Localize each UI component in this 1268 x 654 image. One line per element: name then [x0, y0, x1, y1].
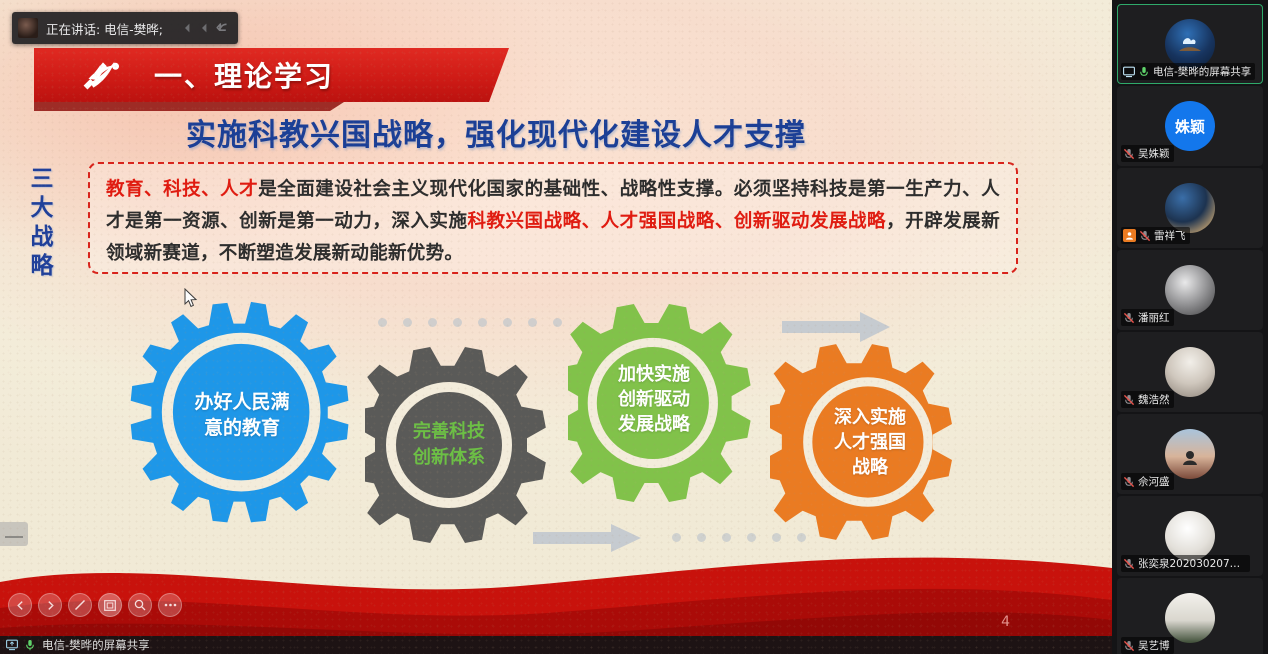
avatar [1165, 19, 1215, 69]
gear-education-shape [128, 297, 374, 543]
participant-name-row: 雷祥飞 [1121, 227, 1190, 244]
participant-tile-4[interactable]: 魏浩然 [1117, 332, 1263, 412]
gear-innovation-shape [568, 302, 770, 504]
mic-on-icon [24, 639, 36, 651]
connector-dots-upper [378, 318, 562, 327]
participant-tile-1[interactable]: 姝颖 吴姝颖 [1117, 86, 1263, 166]
mic-off-icon [1123, 558, 1135, 570]
presentation-toolbar[interactable] [4, 590, 186, 620]
active-speaker-badge[interactable]: 正在讲话: 电信-樊晔; [12, 12, 238, 44]
speaker-badge-controls[interactable] [181, 21, 230, 35]
mouse-cursor [184, 288, 198, 312]
participant-name: 吴姝颖 [1138, 146, 1170, 161]
screen-share-status-bar[interactable]: 电信-樊晔的屏幕共享 [0, 636, 1112, 654]
participant-name-row: 佘河盛 [1121, 473, 1174, 490]
mic-on-icon [1138, 66, 1150, 78]
mic-off-icon [1123, 394, 1135, 406]
slide-section-banner: 一、理论学习 [34, 48, 509, 102]
active-speaker-label: 正在讲话: 电信-樊晔; [46, 19, 163, 38]
banner-title: 一、理论学习 [154, 48, 334, 102]
quote-highlight-3: 国战略、创新驱动发展战略 [658, 211, 886, 232]
quote-dashed-box: 教育、科技、人才是全面建设社会主义现代化国家的基础性、战略性支撑。必须坚持科技是… [88, 162, 1018, 274]
shared-screen-area[interactable]: 一、理论学习 实施科教兴国战略，强化现代化建设人才支撑 三 大 战 略 教育、科… [0, 0, 1112, 654]
avatar [1165, 265, 1215, 315]
participant-name-row: 吴姝颖 [1121, 145, 1174, 162]
avatar [1165, 593, 1215, 643]
avatar [1165, 183, 1215, 233]
gear-talent[interactable]: 深入实施 人才强国 战略 [770, 340, 974, 544]
participant-name: 张奕泉2020302074电子… [1138, 556, 1246, 571]
participant-tile-7[interactable]: 吴艺博 [1117, 578, 1263, 654]
screen-share-icon [6, 639, 18, 651]
screen-share-icon [1123, 66, 1135, 78]
participant-name-row: 吴艺博 [1121, 637, 1174, 654]
vertical-char-4: 略 [31, 253, 54, 279]
gear-talent-shape [770, 340, 974, 544]
avatar [1165, 511, 1215, 561]
slide-vertical-label: 三 大 战 略 [22, 165, 62, 281]
screen-share-status-text: 电信-樊晔的屏幕共享 [42, 637, 150, 653]
mic-off-icon [1123, 312, 1135, 324]
participant-name: 雷祥飞 [1154, 228, 1186, 243]
gear-education[interactable]: 办好人民满 意的教育 [128, 297, 374, 543]
participant-name: 佘河盛 [1138, 474, 1170, 489]
mic-off-icon [1123, 640, 1135, 652]
slide-page-number: 4 [1001, 614, 1010, 630]
mic-off-icon [1139, 230, 1151, 242]
quote-text-1: 是全面建设社会主义现代化国家的基础性、战略性支撑。必须坚持 [258, 179, 810, 200]
avatar [1165, 347, 1215, 397]
presentation-slide[interactable]: 一、理论学习 实施科教兴国战略，强化现代化建设人才支撑 三 大 战 略 教育、科… [0, 0, 1112, 654]
host-badge-icon [1123, 229, 1136, 242]
avatar [1165, 429, 1215, 479]
gear-innovation[interactable]: 加快实施 创新驱动 发展战略 [568, 302, 770, 504]
participant-filmstrip[interactable]: 电信-樊晔的屏幕共享 姝颖 吴姝颖 [1112, 0, 1268, 654]
gear-sci-tech[interactable]: 完善科技 创新体系 [365, 345, 565, 545]
participant-name: 吴艺博 [1138, 638, 1170, 653]
screen-share-meeting-window: 一、理论学习 实施科教兴国战略，强化现代化建设人才支撑 三 大 战 略 教育、科… [0, 0, 1268, 654]
vertical-char-1: 三 [31, 166, 54, 192]
participant-tile-6[interactable]: 张奕泉2020302074电子… [1117, 496, 1263, 576]
mic-off-icon [1123, 476, 1135, 488]
participant-name-row: 张奕泉2020302074电子… [1121, 555, 1250, 572]
pen-annotate-button[interactable] [68, 593, 92, 617]
zoom-button[interactable] [128, 593, 152, 617]
collapse-left-icon[interactable] [181, 21, 195, 35]
participant-tile-0[interactable]: 电信-樊晔的屏幕共享 [1117, 4, 1263, 84]
avatar-initials: 姝颖 [1175, 116, 1205, 137]
mic-off-icon [1123, 148, 1135, 160]
restore-arrow-icon[interactable] [215, 21, 230, 35]
party-emblem-icon [62, 40, 142, 110]
participant-name-row: 电信-樊晔的屏幕共享 [1121, 63, 1255, 80]
avatar: 姝颖 [1165, 101, 1215, 151]
quote-paragraph: 教育、科技、人才是全面建设社会主义现代化国家的基础性、战略性支撑。必须坚持科技是… [106, 174, 1000, 270]
participant-name: 魏浩然 [1138, 392, 1170, 407]
participant-name-row: 潘丽红 [1121, 309, 1174, 326]
vertical-char-3: 战 [31, 224, 54, 250]
slide-thumbnails-button[interactable] [98, 593, 122, 617]
slide-footer-wave: 4 [0, 524, 1112, 654]
next-slide-button[interactable] [38, 593, 62, 617]
slide-main-title: 实施科教兴国战略，强化现代化建设人才支撑 [186, 110, 946, 154]
participant-tile-5[interactable]: 佘河盛 [1117, 414, 1263, 494]
quote-highlight-1: 教育、科技、人才 [106, 179, 258, 200]
participant-tile-2[interactable]: 雷祥飞 [1117, 168, 1263, 248]
participant-tile-3[interactable]: 潘丽红 [1117, 250, 1263, 330]
participant-name: 电信-樊晔的屏幕共享 [1153, 64, 1251, 79]
sidebar-edge-tab[interactable] [0, 522, 28, 546]
collapse-left-icon-2[interactable] [198, 21, 212, 35]
more-options-button[interactable] [158, 593, 182, 617]
participant-name: 潘丽红 [1138, 310, 1170, 325]
prev-slide-button[interactable] [8, 593, 32, 617]
active-speaker-thumbnail [18, 18, 38, 38]
participant-name-row: 魏浩然 [1121, 391, 1174, 408]
gear-sci-tech-shape [365, 345, 565, 545]
quote-highlight-2: 科教兴国战略、人才强 [467, 211, 657, 232]
vertical-char-2: 大 [31, 195, 54, 221]
